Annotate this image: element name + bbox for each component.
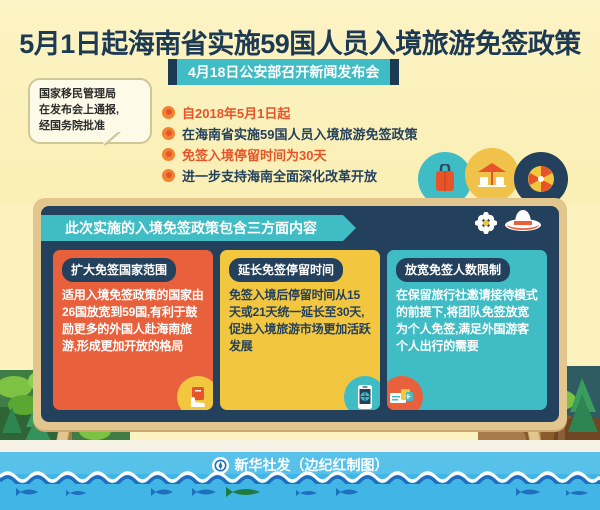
- callout-line-3: 经国务院批准: [39, 119, 142, 135]
- bullet-list: 自2018年5月1日起 在海南省实施59国人员入境旅游免签政策 免签入境停留时间…: [162, 102, 417, 186]
- card-title-pill: 放宽免签人数限制: [396, 258, 510, 282]
- footer-credit: 新华社发（边纪红制图）: [0, 455, 600, 475]
- card-body-text: 适用入境免签政策的国家由26国放宽到59国,有利于鼓励更多的外国人赴海南旅游,形…: [62, 287, 204, 355]
- bullet-label: 进一步支持海南全面深化改革开放: [182, 166, 377, 185]
- blackboard-frame: 此次实施的入境免签政策包含三方面内容: [33, 198, 567, 430]
- callout-line-2: 在发布会上通报,: [39, 103, 142, 119]
- card-expand-countries: 扩大免签国家范围 适用入境免签政策的国家由26国放宽到59国,有利于鼓励更多的外…: [53, 250, 213, 410]
- xinhua-logo-icon: [212, 457, 229, 474]
- board-banner: 此次实施的入境免签政策包含三方面内容: [41, 215, 343, 241]
- bullet-label: 在海南省实施59国人员入境旅游免签政策: [182, 124, 417, 143]
- subtitle-left-bar: [168, 59, 177, 85]
- card-columns: 扩大免签国家范围 适用入境免签政策的国家由26国放宽到59国,有利于鼓励更多的外…: [53, 250, 547, 410]
- callout-line-1: 国家移民管理局: [39, 87, 142, 103]
- card-extend-stay: 延长免签停留时间 免签入境后停留时间从15天或21天统一延长至30天,促进入境旅…: [220, 250, 380, 410]
- page-title: 5月1日起海南省实施59国人员入境旅游免签政策: [0, 22, 600, 61]
- bullet-dot-icon: [162, 127, 175, 140]
- credit-text: 新华社发（边纪红制图）: [235, 455, 389, 475]
- card-title-pill: 延长免签停留时间: [229, 258, 343, 282]
- callout-bubble: 国家移民管理局 在发布会上通报, 经国务院批准: [28, 78, 152, 144]
- blackboard: 此次实施的入境免签政策包含三方面内容: [41, 206, 559, 422]
- card-title-pill: 扩大免签国家范围: [62, 258, 176, 282]
- fish-illustration: [0, 484, 600, 510]
- bullet-item: 自2018年5月1日起: [162, 102, 417, 122]
- bullet-dot-icon: [162, 106, 175, 119]
- sun-hat-icon: [503, 208, 543, 241]
- subtitle-text: 4月18日公安部召开新闻发布会: [177, 59, 390, 85]
- bullet-dot-icon: [162, 148, 175, 161]
- bullet-label: 自2018年5月1日起: [182, 103, 290, 122]
- mobile-globe-icon: [344, 376, 380, 410]
- header-area: 5月1日起海南省实施59国人员入境旅游免签政策 4月18日公安部召开新闻发布会 …: [0, 0, 600, 205]
- ticket-icon: [387, 376, 423, 410]
- bullet-item: 在海南省实施59国人员入境旅游免签政策: [162, 123, 417, 143]
- subtitle-right-bar: [390, 59, 399, 85]
- infographic-poster: 5月1日起海南省实施59国人员入境旅游免签政策 4月18日公安部召开新闻发布会 …: [0, 0, 600, 510]
- passport-hand-icon: [177, 376, 213, 410]
- bullet-item: 进一步支持海南全面深化改革开放: [162, 165, 417, 185]
- bullet-label: 免签入境停留时间为30天: [182, 145, 326, 164]
- beach-umbrella-icon: [465, 148, 519, 202]
- flower-icon: [475, 212, 497, 239]
- bullet-item: 免签入境停留时间为30天: [162, 144, 417, 164]
- card-body-text: 在保留旅行社邀请接待模式的前提下,将团队免签放宽为个人免签,满足外国游客个人出行…: [396, 287, 538, 355]
- subtitle-banner: 4月18日公安部召开新闻发布会: [168, 59, 399, 85]
- card-relax-quota: 放宽免签人数限制 在保留旅行社邀请接待模式的前提下,将团队免签放宽为个人免签,满…: [387, 250, 547, 410]
- callout-tail: [96, 130, 120, 144]
- bullet-dot-icon: [162, 169, 175, 182]
- card-body-text: 免签入境后停留时间从15天或21天统一延长至30天,促进入境旅游市场更加活跃发展: [229, 287, 371, 355]
